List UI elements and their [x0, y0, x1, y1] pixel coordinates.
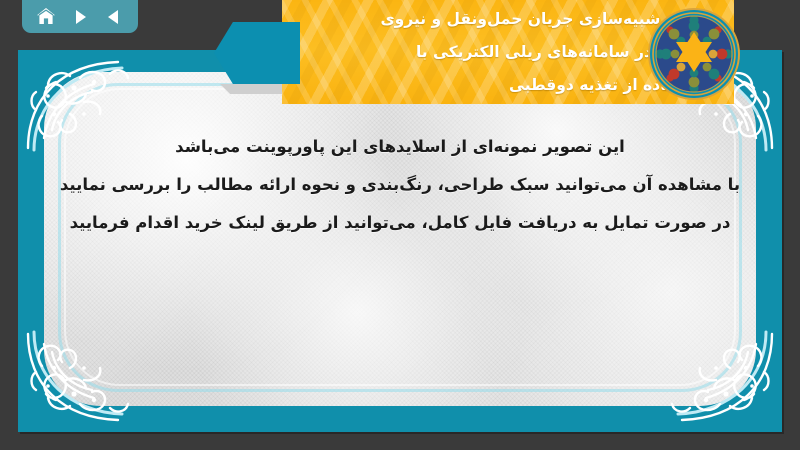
- body-line-3: در صورت تمایل به دریافت فایل کامل، می‌تو…: [58, 204, 742, 242]
- slide-canvas: این تصویر نمونه‌ای از اسلایدهای این پاور…: [18, 50, 782, 432]
- title-line-3: استفاده از تغذیه دوقطبی: [304, 69, 704, 102]
- navigation-toolbar: Back Forward Home: [22, 0, 138, 33]
- body-line-1: این تصویر نمونه‌ای از اسلایدهای این پاور…: [58, 128, 742, 166]
- forward-button[interactable]: Forward: [67, 5, 93, 29]
- home-icon: [36, 7, 56, 26]
- decorative-medallion: [646, 6, 742, 102]
- title-line-2: کشش در سامانه‌های ریلی الکتریکی با: [304, 36, 704, 69]
- slide-viewer: Back Forward Home: [0, 0, 800, 450]
- home-button[interactable]: Home: [33, 5, 59, 29]
- title-line-1: کامل شبیه‌سازی جریان حمل‌ونقل و نیروی: [304, 3, 704, 36]
- body-line-2: با مشاهده آن می‌توانید سبک طراحی، رنگ‌بن…: [58, 166, 742, 204]
- forward-arrow-icon: [71, 8, 89, 26]
- persian-medallion-icon: [646, 6, 742, 102]
- back-button[interactable]: Back: [101, 5, 127, 29]
- slide-body-text: این تصویر نمونه‌ای از اسلایدهای این پاور…: [58, 128, 742, 242]
- back-arrow-icon: [105, 8, 123, 26]
